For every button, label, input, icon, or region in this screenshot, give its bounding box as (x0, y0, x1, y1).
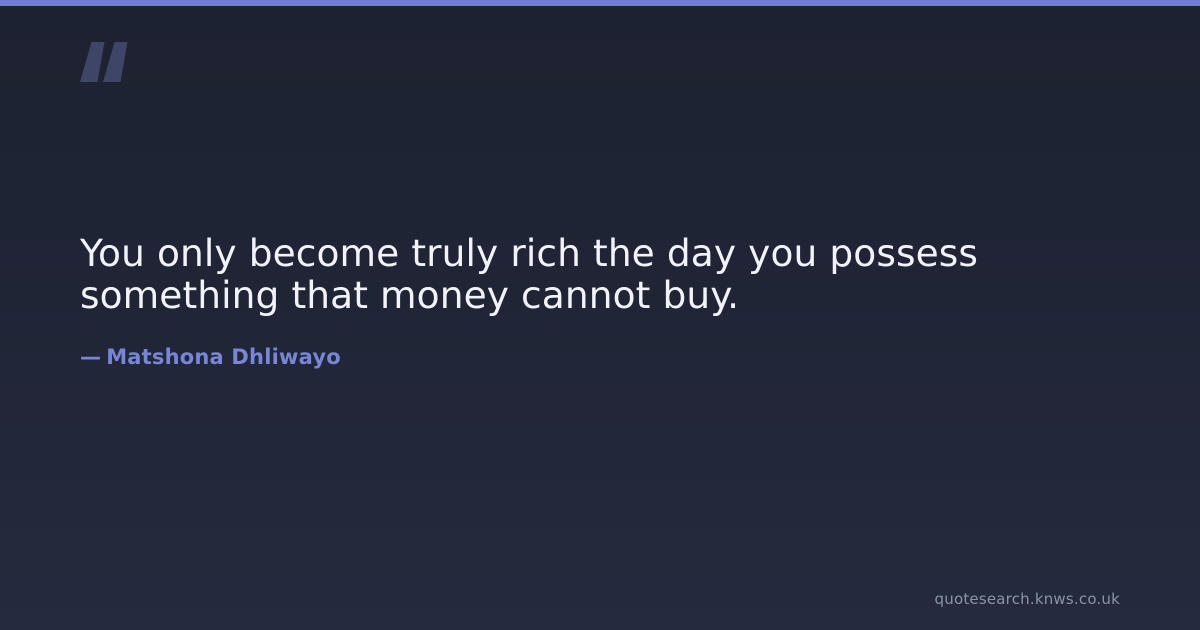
site-watermark: quotesearch.knws.co.uk (935, 590, 1120, 608)
attribution-author: Matshona Dhliwayo (106, 345, 341, 369)
top-accent-bar (0, 0, 1200, 6)
quote-attribution: —Matshona Dhliwayo (80, 316, 1120, 370)
attribution-dash: — (80, 344, 101, 370)
quote-card: You only become truly rich the day you p… (0, 0, 1200, 630)
double-quotation-mark-icon (80, 42, 132, 82)
quote-text: You only become truly rich the day you p… (80, 232, 1000, 316)
quote-content: You only become truly rich the day you p… (80, 232, 1120, 370)
